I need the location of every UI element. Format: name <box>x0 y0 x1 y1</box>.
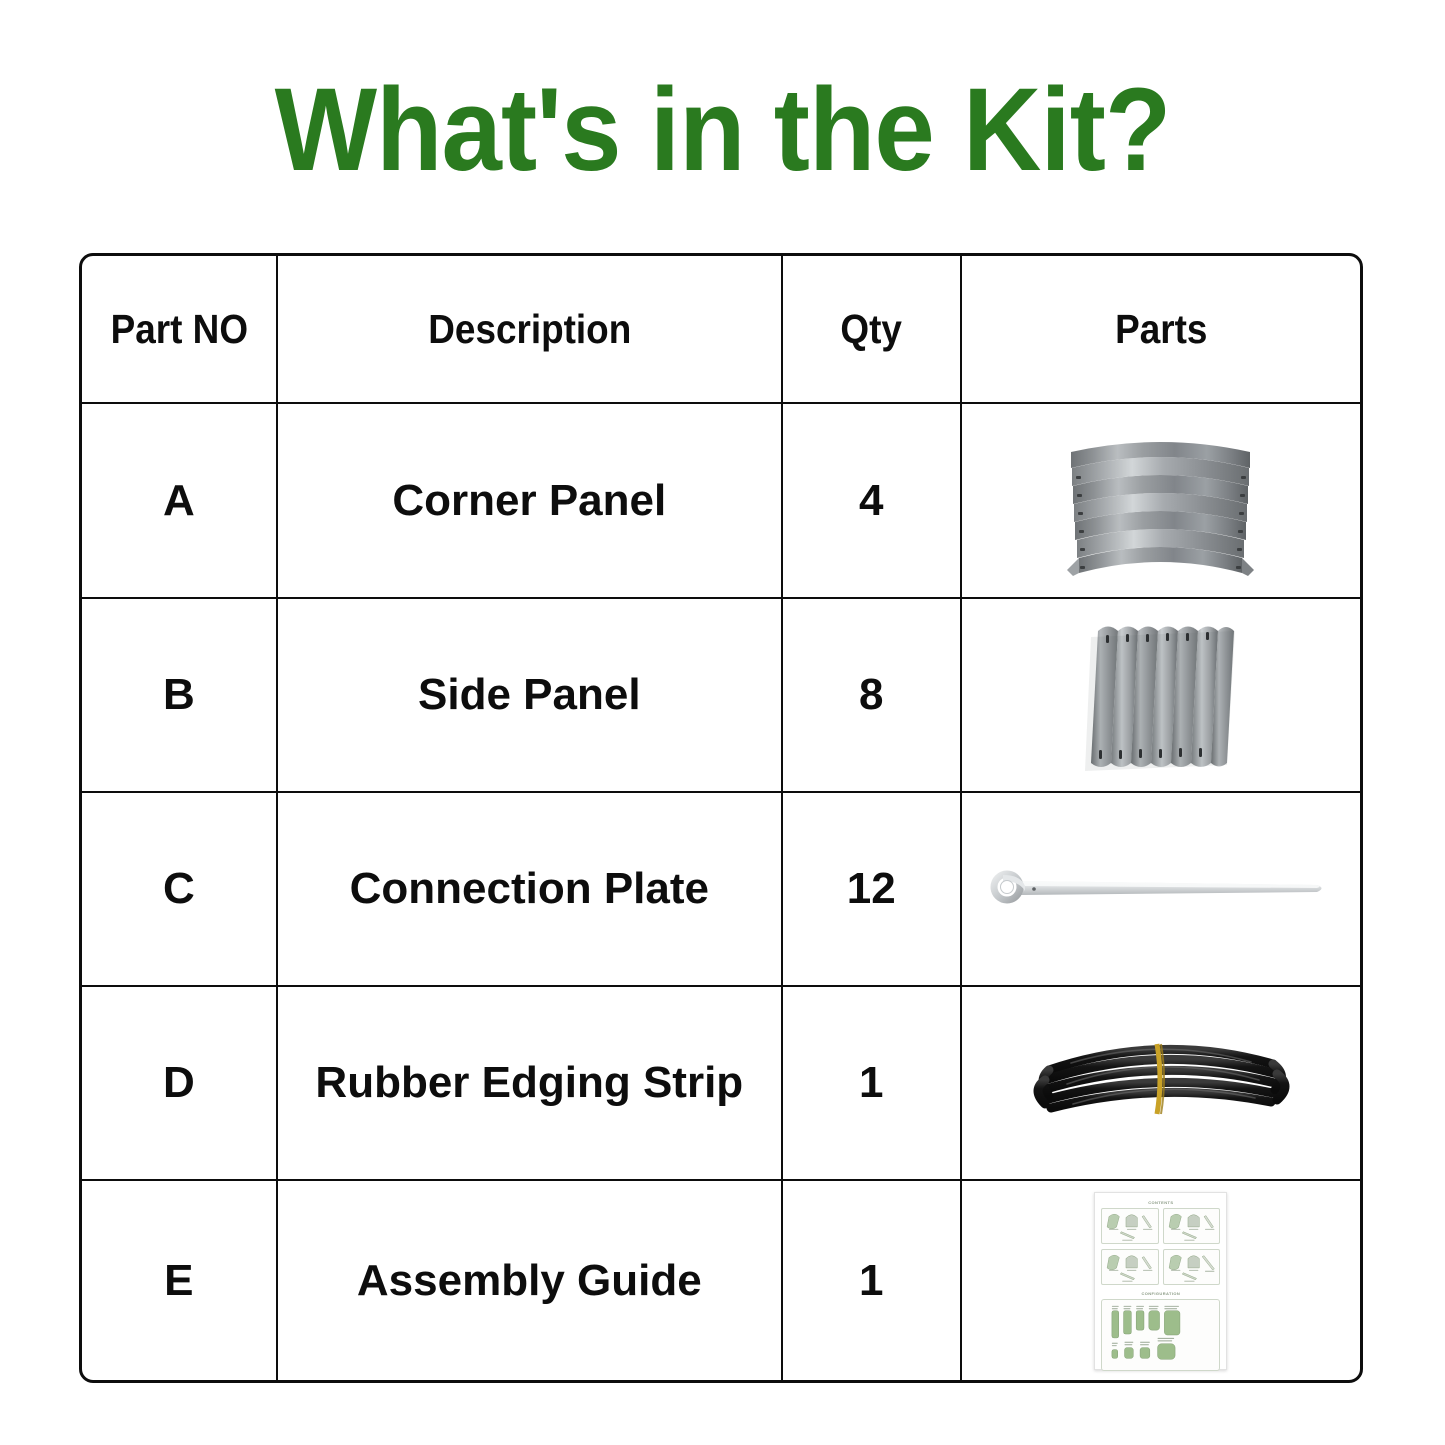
cell-qty-a: 4 <box>783 404 962 597</box>
table-row: D Rubber Edging Strip 1 <box>82 987 1360 1181</box>
qty-value-e: 1 <box>859 1256 883 1306</box>
table-row: B Side Panel 8 <box>82 599 1360 793</box>
parts-table: Part NO Description Qty Parts A Corner P… <box>79 253 1363 1383</box>
cell-qty-e: 1 <box>783 1181 962 1380</box>
cell-description-c: Connection Plate <box>278 793 783 985</box>
side-panel-icon <box>1063 613 1258 778</box>
qty-value-c: 12 <box>847 864 896 914</box>
qty-value-a: 4 <box>859 476 883 526</box>
cell-description-b: Side Panel <box>278 599 783 791</box>
guide-parts-diagram-icon <box>1102 1209 1158 1243</box>
part-letter-a: A <box>163 476 195 526</box>
table-header-row: Part NO Description Qty Parts <box>82 256 1360 404</box>
cell-part-no-e: E <box>82 1181 278 1380</box>
assembly-guide-sheet: CONTENTS <box>1094 1192 1227 1370</box>
guide-diagram-box <box>1101 1249 1159 1285</box>
cell-part-no-d: D <box>82 987 278 1179</box>
table-row: A Corner Panel 4 <box>82 404 1360 599</box>
part-letter-e: E <box>164 1256 193 1306</box>
connection-plate-icon <box>981 859 1341 919</box>
cell-qty-d: 1 <box>783 987 962 1179</box>
header-cell-qty: Qty <box>783 256 962 402</box>
corner-panel-image <box>962 404 1360 597</box>
connection-plate-image <box>962 793 1360 985</box>
cell-description-a: Corner Panel <box>278 404 783 597</box>
cell-part-no-a: A <box>82 404 278 597</box>
header-label-part-no: Part NO <box>110 306 247 353</box>
guide-contents-grid <box>1101 1208 1220 1286</box>
header-label-description: Description <box>428 306 631 353</box>
rubber-edging-strip-icon <box>1011 1018 1311 1148</box>
cell-parts-c <box>962 793 1360 985</box>
guide-diagram-box <box>1163 1249 1221 1285</box>
guide-contents-cell <box>1101 1208 1159 1245</box>
page-title: What's in the Kit? <box>58 68 1387 193</box>
guide-configuration-heading: CONFIGURATION <box>1101 1291 1220 1296</box>
table-row: E Assembly Guide 1 CONTENTS <box>82 1181 1360 1380</box>
qty-value-b: 8 <box>859 670 883 720</box>
description-label-b: Side Panel <box>418 670 641 720</box>
cell-description-d: Rubber Edging Strip <box>278 987 783 1179</box>
corner-panel-icon <box>1053 418 1268 583</box>
cell-qty-b: 8 <box>783 599 962 791</box>
cell-parts-b <box>962 599 1360 791</box>
header-cell-description: Description <box>278 256 783 402</box>
guide-parts-diagram-icon <box>1102 1250 1158 1284</box>
kit-contents-poster: What's in the Kit? Part NO Description Q… <box>0 0 1445 1445</box>
header-cell-part-no: Part NO <box>82 256 278 402</box>
header-label-parts: Parts <box>1115 306 1207 353</box>
cell-description-e: Assembly Guide <box>278 1181 783 1380</box>
cell-qty-c: 12 <box>783 793 962 985</box>
side-panel-image <box>962 599 1360 791</box>
part-letter-b: B <box>163 670 195 720</box>
rubber-edging-strip-image <box>962 987 1360 1179</box>
guide-diagram-box <box>1101 1208 1159 1244</box>
table-row: C Connection Plate 12 <box>82 793 1360 987</box>
guide-parts-diagram-icon <box>1164 1209 1220 1243</box>
guide-contents-cell <box>1163 1208 1221 1245</box>
description-label-d: Rubber Edging Strip <box>315 1058 743 1108</box>
cell-part-no-c: C <box>82 793 278 985</box>
guide-diagram-box <box>1163 1208 1221 1244</box>
header-label-qty: Qty <box>840 306 902 353</box>
part-letter-d: D <box>163 1058 195 1108</box>
guide-contents-cell <box>1163 1249 1221 1286</box>
guide-parts-diagram-icon <box>1164 1250 1220 1284</box>
description-label-e: Assembly Guide <box>357 1256 702 1306</box>
header-cell-parts: Parts <box>962 256 1360 402</box>
description-label-a: Corner Panel <box>392 476 666 526</box>
part-letter-c: C <box>163 864 195 914</box>
guide-configuration-box <box>1101 1299 1220 1371</box>
guide-configuration-diagram-icon <box>1102 1300 1219 1370</box>
guide-contents-cell <box>1101 1249 1159 1286</box>
guide-contents-heading: CONTENTS <box>1101 1200 1220 1205</box>
cell-parts-d <box>962 987 1360 1179</box>
cell-parts-a <box>962 404 1360 597</box>
assembly-guide-image: CONTENTS <box>962 1181 1360 1380</box>
cell-part-no-b: B <box>82 599 278 791</box>
qty-value-d: 1 <box>859 1058 883 1108</box>
description-label-c: Connection Plate <box>350 864 709 914</box>
cell-parts-e: CONTENTS <box>962 1181 1360 1380</box>
